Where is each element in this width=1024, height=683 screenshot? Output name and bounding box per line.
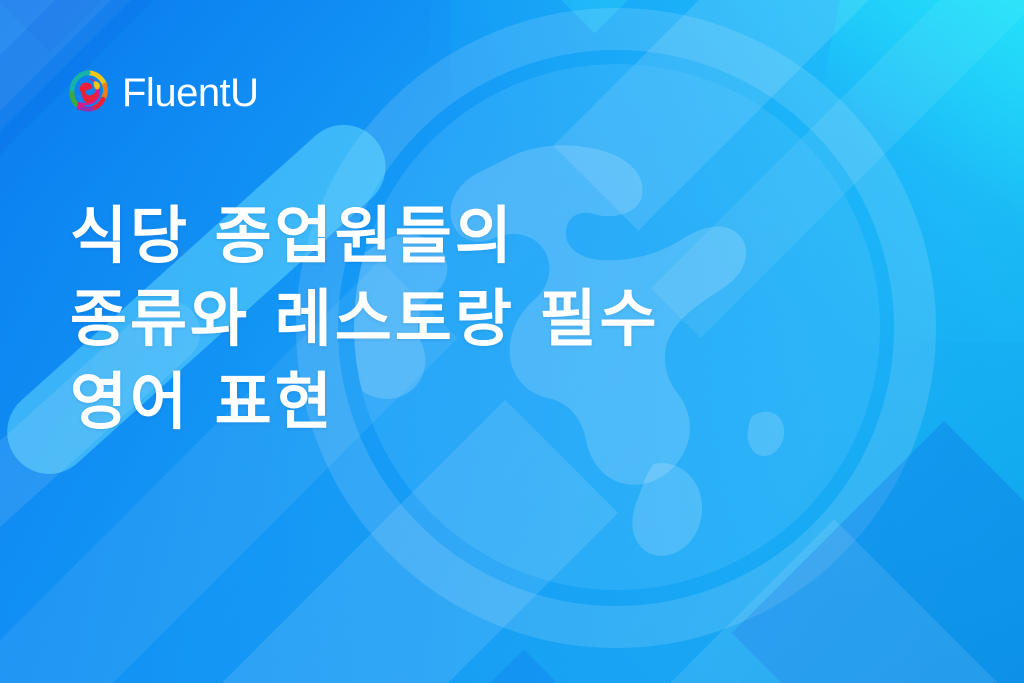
page-title: 식당 종업원들의 종류와 레스토랑 필수 영어 표현 <box>70 194 950 443</box>
fluentu-globe-speech-bubble-icon <box>66 70 110 116</box>
brand-name-text: FluentU <box>122 73 259 113</box>
page-title-line-3: 영어 표현 <box>70 360 950 443</box>
page-title-line-1: 식당 종업원들의 <box>70 194 950 277</box>
brand-lockup: FluentU <box>66 70 259 116</box>
page-title-line-2: 종류와 레스토랑 필수 <box>70 277 950 360</box>
article-cover-canvas: FluentU 식당 종업원들의 종류와 레스토랑 필수 영어 표현 <box>0 0 1024 683</box>
cover-content: FluentU 식당 종업원들의 종류와 레스토랑 필수 영어 표현 <box>0 0 1024 683</box>
